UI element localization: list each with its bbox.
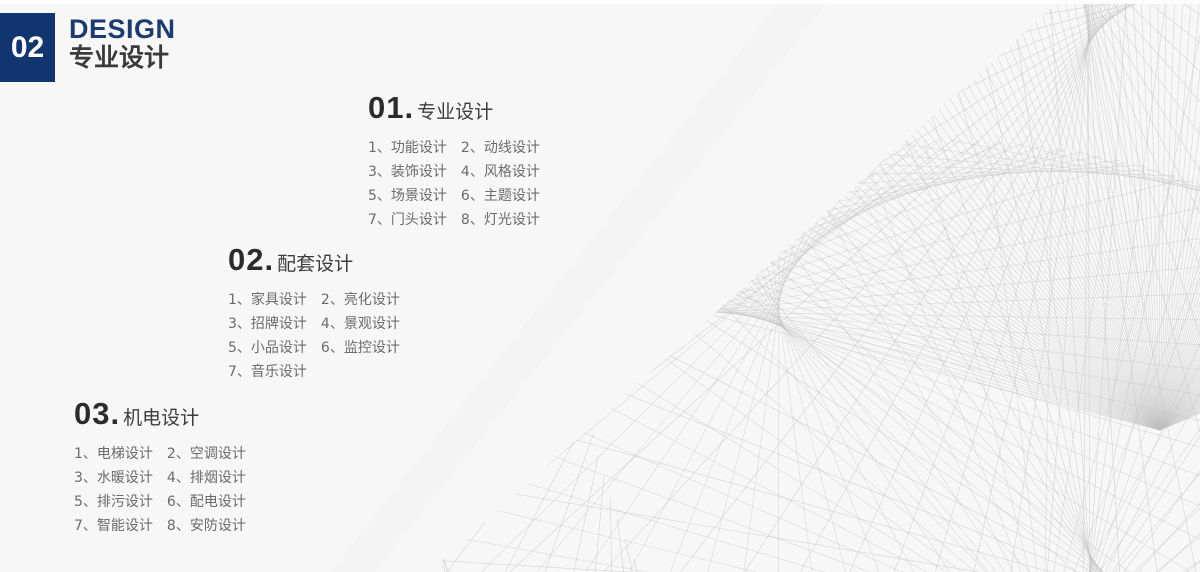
block-01-number: 01. — [368, 90, 414, 126]
block-03-label: 机电设计 — [123, 403, 199, 430]
header-text-group: DESIGN 专业设计 — [69, 15, 176, 73]
list-item: 1、电梯设计 — [74, 442, 153, 466]
list-item: 7、智能设计 — [74, 514, 153, 538]
list-item: 4、风格设计 — [461, 160, 540, 184]
list-item: 1、功能设计 — [368, 136, 447, 160]
top-highlight-strip — [0, 0, 1200, 4]
slide-header: 02 DESIGN 专业设计 — [0, 13, 176, 82]
list-item: 6、配电设计 — [167, 490, 246, 514]
block-02-label: 配套设计 — [277, 249, 353, 276]
list-item: 4、景观设计 — [321, 312, 400, 336]
list-item: 3、装饰设计 — [368, 160, 447, 184]
block-01-title: 01. 专业设计 — [368, 90, 540, 126]
list-item: 2、动线设计 — [461, 136, 540, 160]
list-item: 6、主题设计 — [461, 184, 540, 208]
block-01-item-list: 1、功能设计 2、动线设计 3、装饰设计 4、风格设计 5、场景设计 6、主题设… — [368, 136, 540, 232]
block-02-title: 02. 配套设计 — [228, 242, 400, 278]
content-block-02: 02. 配套设计 1、家具设计 2、亮化设计 3、招牌设计 4、景观设计 5、小… — [228, 242, 400, 384]
list-item: 2、空调设计 — [167, 442, 246, 466]
list-item: 3、招牌设计 — [228, 312, 307, 336]
list-item: 1、家具设计 — [228, 288, 307, 312]
list-item: 7、音乐设计 — [228, 360, 307, 384]
list-item: 6、监控设计 — [321, 336, 400, 360]
block-01-label: 专业设计 — [417, 97, 493, 124]
content-block-03: 03. 机电设计 1、电梯设计 2、空调设计 3、水暖设计 4、排烟设计 5、排… — [74, 396, 246, 538]
page-title-cn: 专业设计 — [69, 44, 176, 73]
block-02-number: 02. — [228, 242, 274, 278]
block-03-item-list: 1、电梯设计 2、空调设计 3、水暖设计 4、排烟设计 5、排污设计 6、配电设… — [74, 442, 246, 538]
list-item: 4、排烟设计 — [167, 466, 246, 490]
list-item: 8、安防设计 — [167, 514, 246, 538]
block-03-number: 03. — [74, 396, 120, 432]
list-item: 5、场景设计 — [368, 184, 447, 208]
section-number-badge: 02 — [0, 13, 55, 82]
slide-canvas: 02 DESIGN 专业设计 01. 专业设计 1、功能设计 2、动线设计 3、… — [0, 0, 1200, 572]
content-block-01: 01. 专业设计 1、功能设计 2、动线设计 3、装饰设计 4、风格设计 5、场… — [368, 90, 540, 232]
list-item: 8、灯光设计 — [461, 208, 540, 232]
page-title-en: DESIGN — [69, 15, 176, 43]
list-item: 5、小品设计 — [228, 336, 307, 360]
block-02-item-list: 1、家具设计 2、亮化设计 3、招牌设计 4、景观设计 5、小品设计 6、监控设… — [228, 288, 400, 384]
list-item: 2、亮化设计 — [321, 288, 400, 312]
list-item: 5、排污设计 — [74, 490, 153, 514]
list-item: 7、门头设计 — [368, 208, 447, 232]
list-item: 3、水暖设计 — [74, 466, 153, 490]
block-03-title: 03. 机电设计 — [74, 396, 246, 432]
